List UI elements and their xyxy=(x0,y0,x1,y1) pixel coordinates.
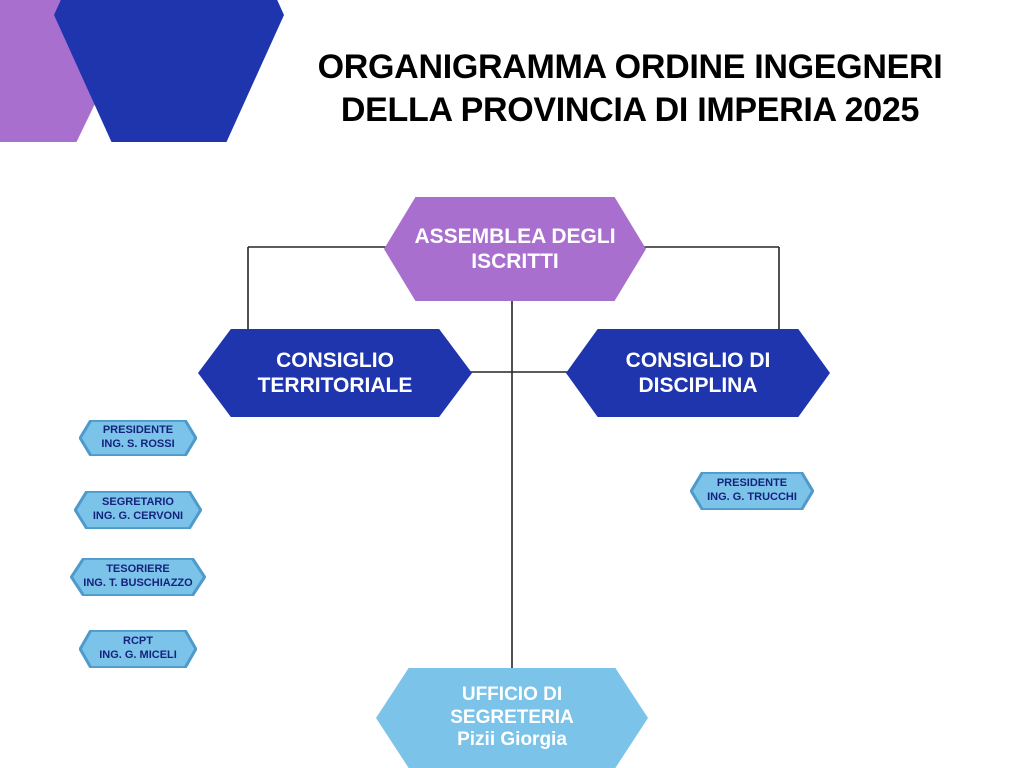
node-label-line-1: UFFICIO DI xyxy=(450,684,574,707)
decorative-hexagon-blue xyxy=(54,0,284,142)
role-person: ING. S. ROSSI xyxy=(101,438,174,452)
node-assemblea-degli-iscritti[interactable]: ASSEMBLEA DEGLI ISCRITTI xyxy=(384,197,646,301)
node-label-line-1: ASSEMBLEA DEGLI xyxy=(414,224,615,249)
role-title: RCPT xyxy=(99,635,177,649)
role-title: PRESIDENTE xyxy=(707,477,797,491)
node-label-line-1: CONSIGLIO xyxy=(258,348,413,373)
node-consiglio-territoriale[interactable]: CONSIGLIO TERRITORIALE xyxy=(198,329,472,417)
node-ufficio-di-segreteria[interactable]: UFFICIO DI SEGRETERIA Pizii Giorgia xyxy=(376,668,648,768)
role-title: PRESIDENTE xyxy=(101,424,174,438)
node-label-line-1: CONSIGLIO DI xyxy=(626,348,771,373)
role-presidente-disciplina[interactable]: PRESIDENTE ING. G. TRUCCHI xyxy=(690,472,814,510)
node-label-line-2: SEGRETERIA xyxy=(450,707,574,730)
role-person: ING. G. MICELI xyxy=(99,649,177,663)
node-label-line-2: TERRITORIALE xyxy=(258,373,413,398)
node-label-line-2: DISCIPLINA xyxy=(626,373,771,398)
node-consiglio-di-disciplina[interactable]: CONSIGLIO DI DISCIPLINA xyxy=(566,329,830,417)
role-label: TESORIERE ING. T. BUSCHIAZZO xyxy=(83,563,192,591)
node-label: ASSEMBLEA DEGLI ISCRITTI xyxy=(414,224,615,274)
page-title-line-2: DELLA PROVINCIA DI IMPERIA 2025 xyxy=(290,89,970,132)
role-label: PRESIDENTE ING. S. ROSSI xyxy=(101,424,174,452)
role-label: SEGRETARIO ING. G. CERVONI xyxy=(93,496,183,524)
node-label: CONSIGLIO DI DISCIPLINA xyxy=(626,348,771,398)
role-label: RCPT ING. G. MICELI xyxy=(99,635,177,663)
node-label-person-name: Pizii Giorgia xyxy=(450,729,574,752)
role-person: ING. G. CERVONI xyxy=(93,510,183,524)
node-label: UFFICIO DI SEGRETERIA Pizii Giorgia xyxy=(450,684,574,752)
role-label: PRESIDENTE ING. G. TRUCCHI xyxy=(707,477,797,505)
role-tesoriere-territoriale[interactable]: TESORIERE ING. T. BUSCHIAZZO xyxy=(70,558,206,596)
role-presidente-territoriale[interactable]: PRESIDENTE ING. S. ROSSI xyxy=(79,420,197,456)
role-person: ING. G. TRUCCHI xyxy=(707,491,797,505)
role-title: SEGRETARIO xyxy=(93,496,183,510)
page-title-line-1: ORGANIGRAMMA ORDINE INGEGNERI xyxy=(290,46,970,89)
role-title: TESORIERE xyxy=(83,563,192,577)
org-chart-canvas: ORGANIGRAMMA ORDINE INGEGNERI DELLA PROV… xyxy=(0,0,1024,768)
node-label-line-2: ISCRITTI xyxy=(414,249,615,274)
page-title: ORGANIGRAMMA ORDINE INGEGNERI DELLA PROV… xyxy=(290,46,970,132)
role-rcpt-territoriale[interactable]: RCPT ING. G. MICELI xyxy=(79,630,197,668)
role-segretario-territoriale[interactable]: SEGRETARIO ING. G. CERVONI xyxy=(74,491,202,529)
node-label: CONSIGLIO TERRITORIALE xyxy=(258,348,413,398)
role-person: ING. T. BUSCHIAZZO xyxy=(83,577,192,591)
